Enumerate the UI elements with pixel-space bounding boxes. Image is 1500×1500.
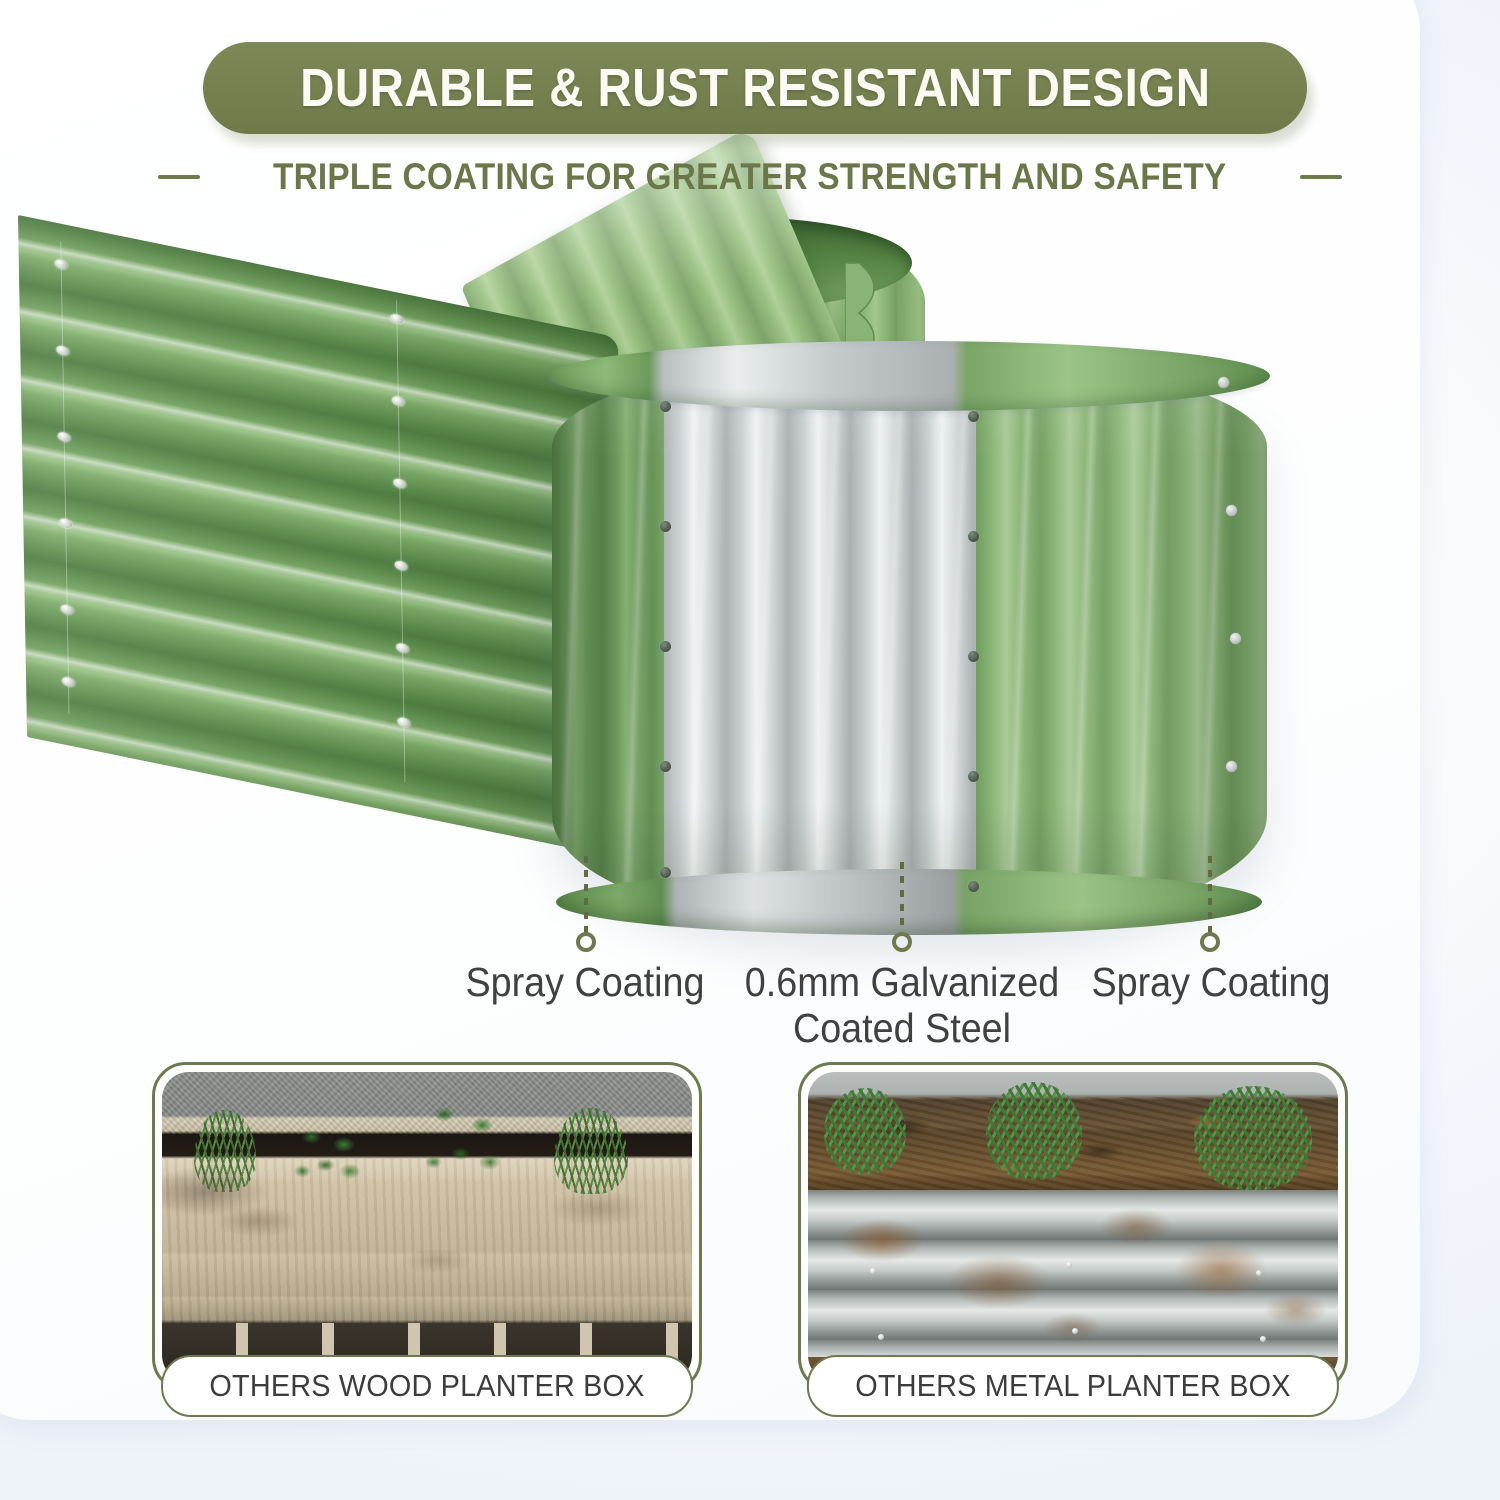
- dash-right-icon: [1300, 175, 1342, 179]
- rivet-icon: [968, 531, 979, 542]
- rivet-icon: [660, 521, 671, 532]
- comparison-cards: OTHERS WOOD PLANTER BOX: [0, 1062, 1500, 1462]
- rivet-icon: [660, 761, 671, 772]
- photo-metal-planter: [808, 1072, 1338, 1382]
- callout-label-spray-coating-left: Spray Coating: [433, 960, 737, 1006]
- rivet-icon: [1066, 1262, 1072, 1268]
- rivet-icon: [660, 641, 671, 652]
- callout-label-galvanized-steel: 0.6mm Galvanized Coated Steel: [731, 960, 1073, 1052]
- card-caption-text: OTHERS METAL PLANTER BOX: [855, 1368, 1290, 1404]
- wood-photo-grain: [162, 1159, 692, 1323]
- subtitle-row: TRIPLE COATING FOR GREATER STRENGTH AND …: [0, 156, 1500, 198]
- rivet-icon: [1256, 1270, 1262, 1276]
- photo-wood-planter: [162, 1072, 692, 1382]
- rivet-icon: [1218, 377, 1229, 388]
- rivet-icon: [878, 1334, 884, 1340]
- plant-tomato: [824, 1088, 906, 1174]
- plant-tomato: [986, 1082, 1082, 1180]
- front-body-shading: [552, 355, 1267, 930]
- rivet-icon: [968, 411, 979, 422]
- rivet-icon: [870, 1268, 876, 1274]
- rivet-icon: [660, 401, 671, 412]
- rivet-icon: [660, 867, 671, 878]
- card-others-wood-planter-box[interactable]: OTHERS WOOD PLANTER BOX: [152, 1062, 702, 1392]
- dash-left-icon: [158, 175, 200, 179]
- bottom-bead-rim: [556, 869, 1262, 935]
- card-caption-pill: OTHERS METAL PLANTER BOX: [807, 1355, 1339, 1417]
- callout-leader-dot: [576, 932, 596, 952]
- rivet-icon: [968, 881, 979, 892]
- front-corrugated-body: [552, 355, 1267, 930]
- top-bead-rim: [548, 341, 1270, 411]
- rivet-icon: [1226, 505, 1237, 516]
- rivet-icon: [1072, 1328, 1078, 1334]
- callout-leader-dot: [1200, 932, 1220, 952]
- rivet-icon: [1226, 761, 1237, 772]
- title-banner-body: DURABLE & RUST RESISTANT DESIGN: [203, 42, 1307, 134]
- rivet-icon: [968, 651, 979, 662]
- title-banner: DURABLE & RUST RESISTANT DESIGN: [203, 42, 1313, 138]
- rivet-icon: [1260, 1336, 1266, 1342]
- callout-label-spray-coating-right: Spray Coating: [1059, 960, 1363, 1006]
- rivet-icon: [968, 771, 979, 782]
- card-caption-text: OTHERS WOOD PLANTER BOX: [209, 1368, 644, 1404]
- product-illustration: [0, 205, 1500, 935]
- page-subtitle: TRIPLE COATING FOR GREATER STRENGTH AND …: [273, 156, 1226, 198]
- card-caption-pill: OTHERS WOOD PLANTER BOX: [161, 1355, 693, 1417]
- callout-leader-dot: [892, 932, 912, 952]
- rivet-icon: [1230, 633, 1241, 644]
- plant-tomato: [1194, 1086, 1312, 1190]
- page-title: DURABLE & RUST RESISTANT DESIGN: [300, 57, 1210, 119]
- infographic-page: DURABLE & RUST RESISTANT DESIGN TRIPLE C…: [0, 0, 1500, 1500]
- card-others-metal-planter-box[interactable]: OTHERS METAL PLANTER BOX: [798, 1062, 1348, 1392]
